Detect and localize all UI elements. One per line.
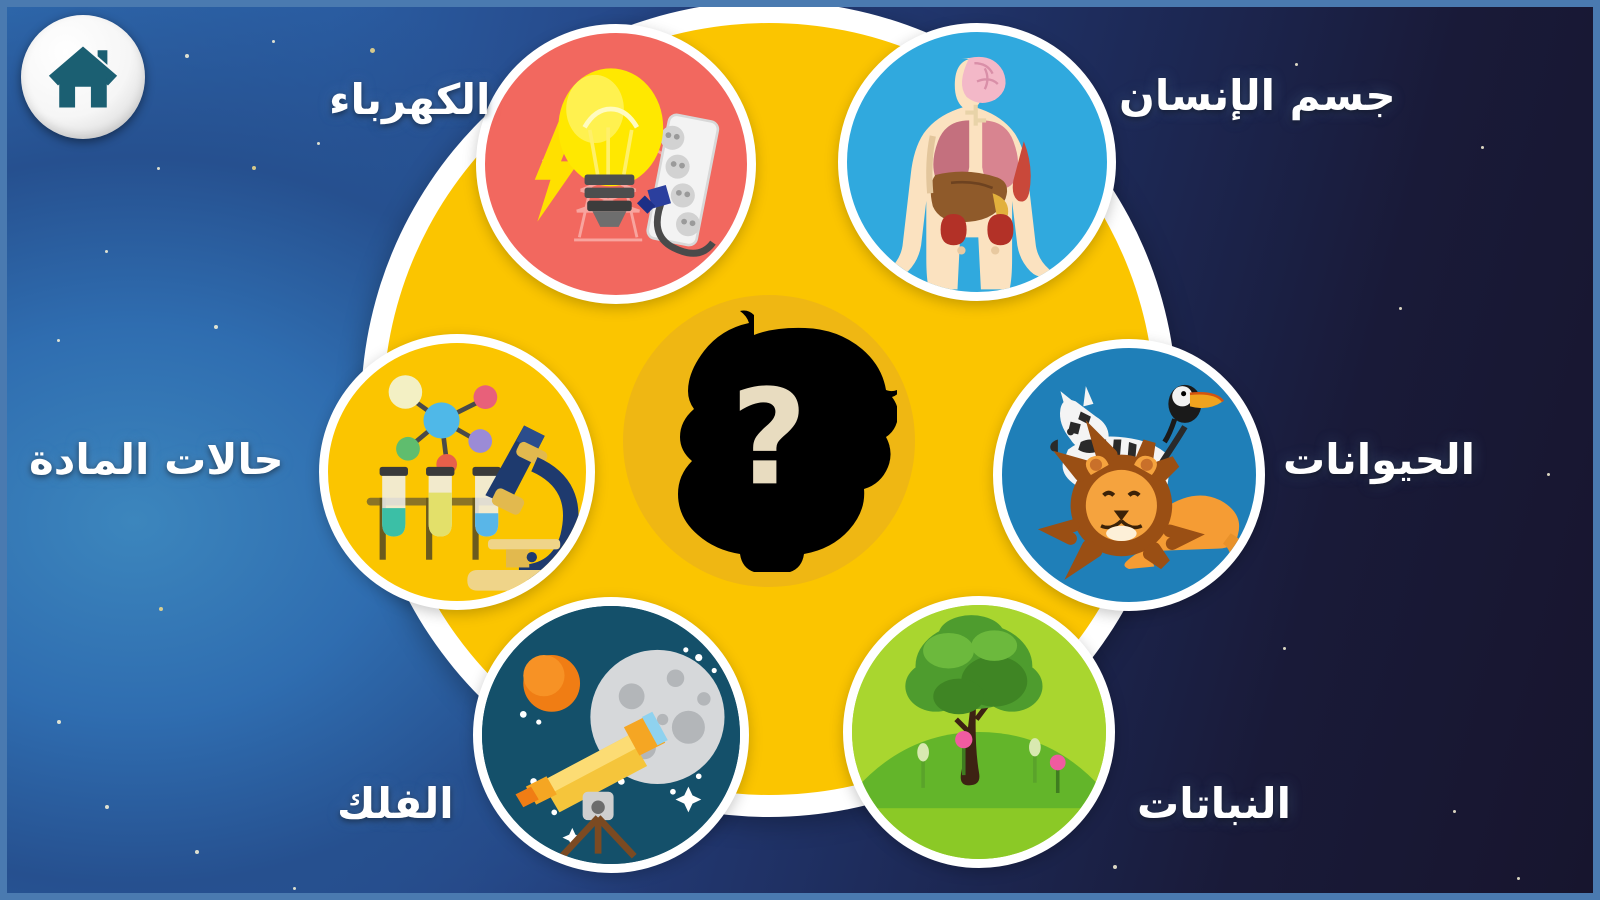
category-bubble-animals[interactable]: [993, 339, 1265, 611]
category-bubble-astronomy[interactable]: [473, 597, 749, 873]
category-label-plants[interactable]: النباتات: [1137, 779, 1291, 828]
category-wheel: ?: [361, 1, 1177, 881]
app-screen: ?: [0, 0, 1600, 900]
microscope-testtubes-icon: [328, 343, 586, 601]
lion-zebra-toucan-icon: [1002, 348, 1256, 602]
home-icon: [44, 38, 122, 116]
category-label-electricity[interactable]: الكهرباء: [329, 75, 490, 124]
human-body-organs-icon: [847, 32, 1107, 292]
tree-hill-icon: [852, 605, 1106, 859]
wheel-center-hub[interactable]: ?: [623, 295, 915, 587]
category-label-animals[interactable]: الحيوانات: [1283, 435, 1475, 484]
category-label-astronomy[interactable]: الفلك: [337, 779, 454, 828]
lightbulb-power-icon: [485, 33, 747, 295]
home-button[interactable]: [21, 15, 145, 139]
category-bubble-plants[interactable]: [843, 596, 1115, 868]
question-head-silhouette: ?: [642, 307, 897, 575]
category-bubble-states-of-matter[interactable]: [319, 334, 595, 610]
category-label-human-body[interactable]: جسم الإنسان: [1119, 71, 1396, 120]
category-label-states-of-matter[interactable]: حالات المادة: [29, 435, 284, 484]
question-mark: ?: [642, 372, 897, 504]
category-bubble-electricity[interactable]: [476, 24, 756, 304]
category-bubble-human-body[interactable]: [838, 23, 1116, 301]
telescope-moon-icon: [482, 606, 740, 864]
